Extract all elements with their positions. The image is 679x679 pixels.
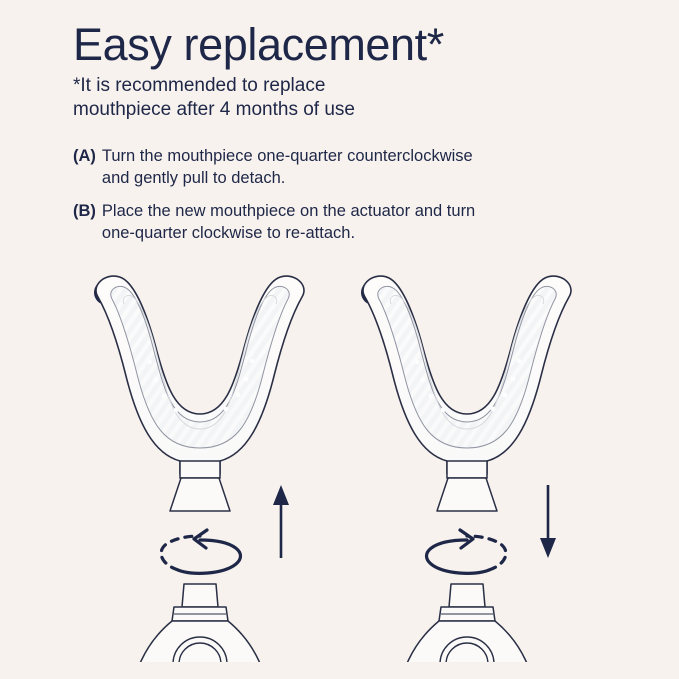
- panel-a-artwork: [60, 262, 340, 662]
- step-a-letter: (A): [73, 145, 96, 167]
- actuator-device-b: [399, 584, 535, 662]
- panel-b-artwork: [327, 262, 607, 662]
- rotation-arrow-counterclockwise-icon: [161, 530, 240, 573]
- step-b-text: Place the new mouthpiece on the actuator…: [102, 200, 502, 245]
- step-item-b: (B) Place the new mouthpiece on the actu…: [73, 200, 593, 245]
- motion-arrow-up-icon: [273, 485, 289, 558]
- easy-replacement-infographic: Easy replacement* *It is recommended to …: [0, 0, 679, 679]
- step-a-text: Turn the mouthpiece one-quarter counterc…: [102, 145, 502, 190]
- rotation-arrow-clockwise-icon: [427, 530, 506, 573]
- steps-list: (A) Turn the mouthpiece one-quarter coun…: [73, 145, 593, 255]
- panel-step-b: B: [327, 262, 607, 662]
- mouthpiece-tray-b: [363, 276, 571, 511]
- header: Easy replacement* *It is recommended to …: [73, 22, 633, 123]
- illustration-area: A: [60, 262, 620, 662]
- page-title: Easy replacement*: [73, 22, 633, 67]
- step-b-letter: (B): [73, 200, 96, 222]
- actuator-device-a: [132, 584, 268, 662]
- mouthpiece-tray-a: [96, 276, 304, 511]
- panel-step-a: A: [60, 262, 340, 662]
- motion-arrow-down-icon: [540, 485, 556, 558]
- page-subtitle: *It is recommended to replace mouthpiece…: [73, 74, 403, 123]
- step-item-a: (A) Turn the mouthpiece one-quarter coun…: [73, 145, 593, 190]
